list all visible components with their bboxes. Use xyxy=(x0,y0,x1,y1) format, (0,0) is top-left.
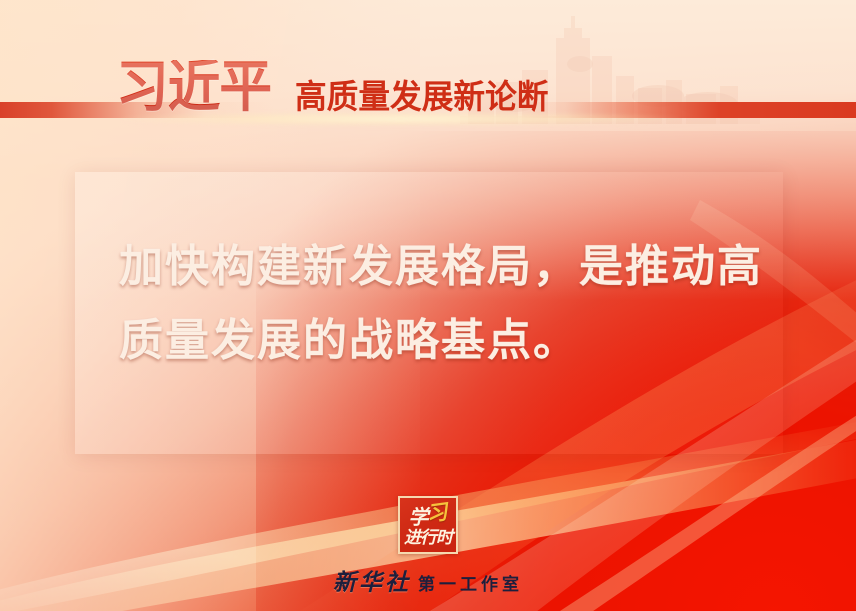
page-subtitle: 高质量发展新论断 xyxy=(295,80,548,113)
publisher-studio: 第一工作室 xyxy=(418,570,523,595)
logo-char-xi: 习 xyxy=(425,500,449,524)
xuexi-jinxingshi-logo: 学 习 进行时 xyxy=(398,496,458,554)
quote-line-1: 加快构建新发展格局，是推动高 xyxy=(119,230,757,304)
poster-canvas: 习近平 高质量发展新论断 加快构建新发展格局，是推动高 质量发展的战略基点。 学… xyxy=(0,0,856,611)
logo-line-1: 学 习 xyxy=(409,504,448,527)
page-title: 习近平 xyxy=(116,60,271,116)
publisher-credit: 新华社 第一工作室 xyxy=(333,563,523,597)
logo-line-2: 进行时 xyxy=(404,530,452,547)
poster-header: 习近平 高质量发展新论断 xyxy=(0,46,856,116)
publisher-name: 新华社 xyxy=(333,563,411,597)
quote-panel: 加快构建新发展格局，是推动高 质量发展的战略基点。 xyxy=(75,172,783,454)
quote-line-2: 质量发展的战略基点。 xyxy=(119,304,757,378)
quote-text-block: 加快构建新发展格局，是推动高 质量发展的战略基点。 xyxy=(119,230,757,378)
poster-footer: 学 习 进行时 新华社 第一工作室 xyxy=(0,496,856,597)
